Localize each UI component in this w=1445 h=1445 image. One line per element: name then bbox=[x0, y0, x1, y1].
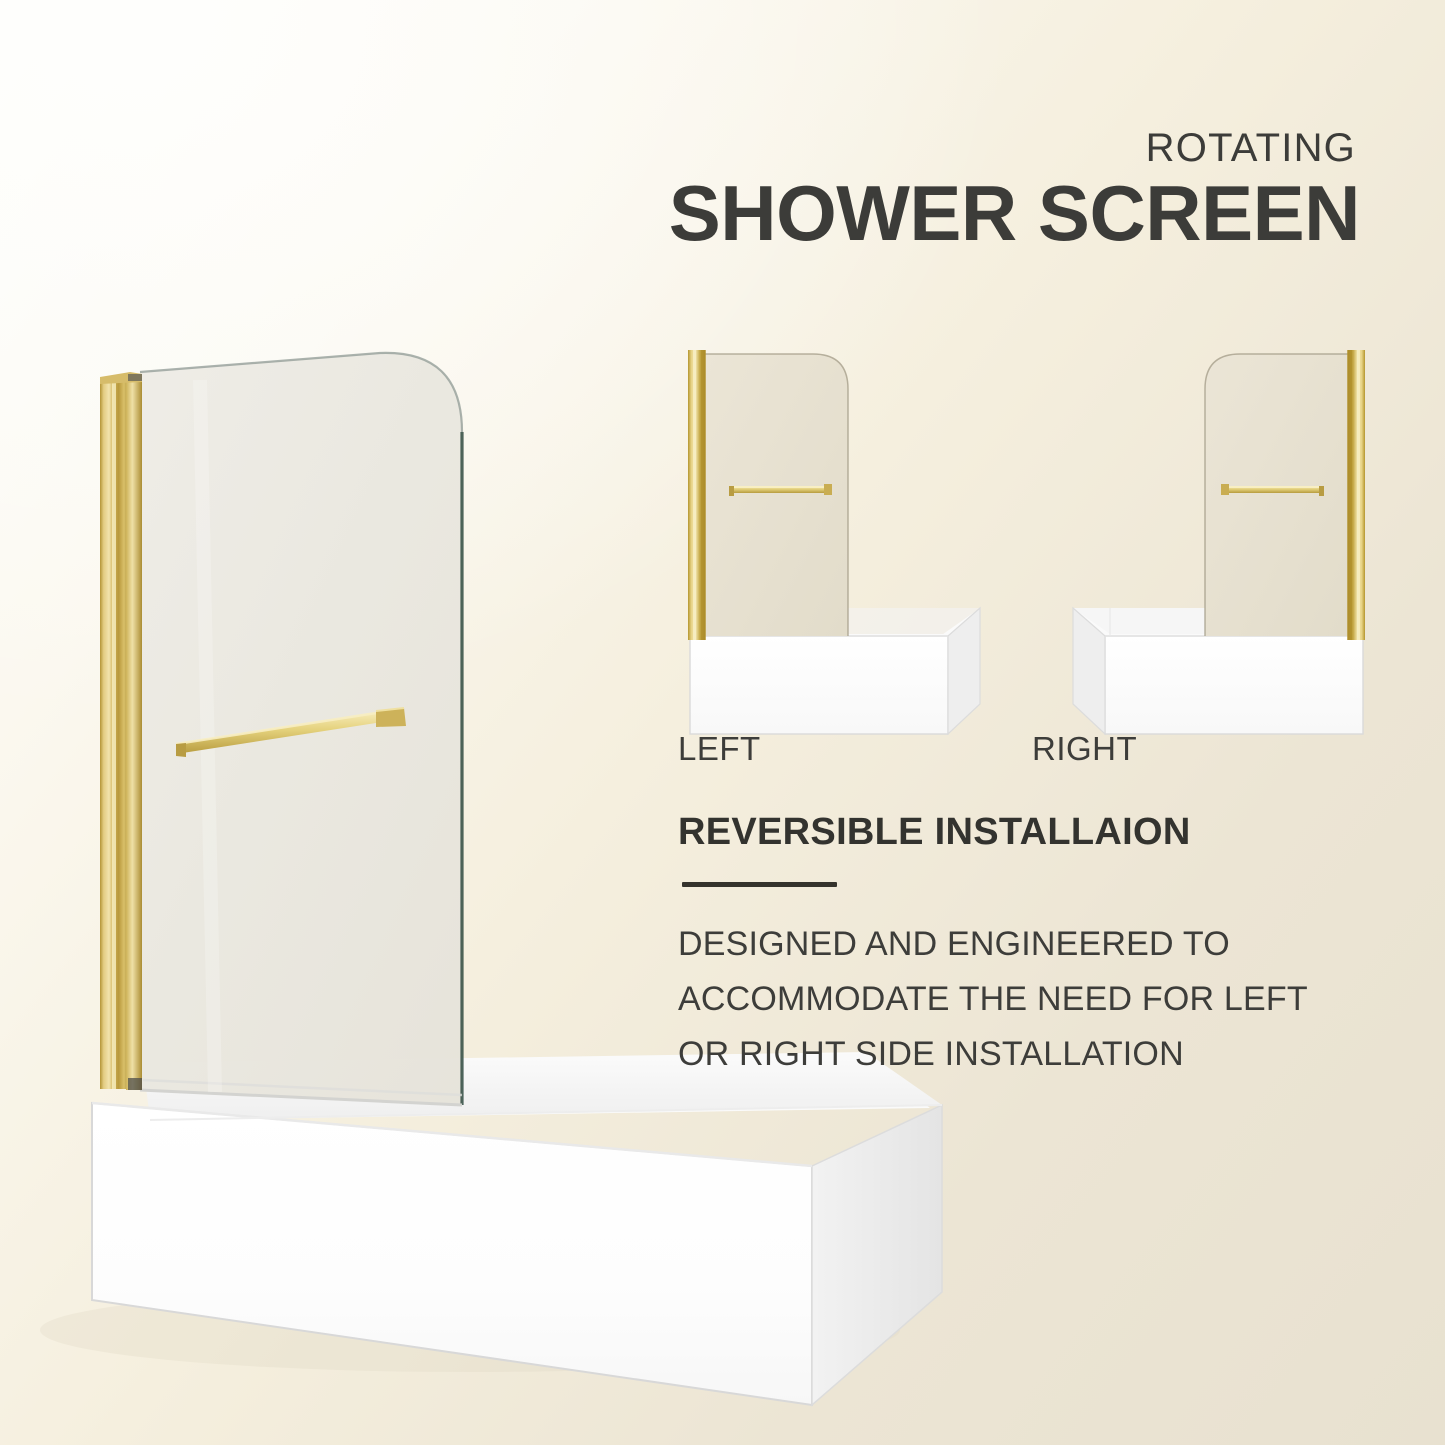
towel-bar-bracket-left bbox=[176, 743, 186, 757]
variant-label-left: LEFT bbox=[678, 730, 761, 768]
variant-left-tub-front bbox=[690, 636, 948, 734]
copy-block: REVERSIBLE INSTALLAION DESIGNED AND ENGI… bbox=[678, 812, 1318, 1082]
variant-left-post-highlight bbox=[693, 350, 696, 640]
copy-body-line-2: ACCOMMODATE THE NEED FOR LEFT bbox=[678, 972, 1318, 1027]
variant-diagram-right bbox=[1040, 336, 1385, 756]
copy-heading: REVERSIBLE INSTALLAION bbox=[678, 812, 1318, 854]
variant-label-right: RIGHT bbox=[1032, 730, 1137, 768]
variant-right-bar-foot bbox=[1319, 486, 1324, 496]
variant-right-bar-bracket bbox=[1221, 484, 1229, 495]
variant-left-bar-highlight bbox=[731, 486, 827, 488]
tub-end-face bbox=[812, 1105, 942, 1405]
variant-left-post-shadow bbox=[701, 350, 706, 640]
copy-divider-rule bbox=[682, 882, 837, 887]
hinge-post-inner bbox=[126, 374, 142, 1090]
variant-right-hinge-post bbox=[1347, 350, 1365, 640]
hinge-top-gasket bbox=[128, 374, 142, 381]
variant-left-hinge-post bbox=[688, 350, 706, 640]
variant-diagram-left bbox=[668, 336, 1013, 756]
variant-right-post-highlight bbox=[1357, 350, 1360, 640]
page-title: SHOWER SCREEN bbox=[600, 174, 1360, 252]
title-kicker: ROTATING bbox=[600, 128, 1356, 168]
copy-body-line-1: DESIGNED AND ENGINEERED TO bbox=[678, 917, 1318, 972]
hinge-post-highlight bbox=[112, 377, 116, 1089]
variant-left-bar-bracket bbox=[824, 484, 832, 495]
variant-right-post-shadow bbox=[1347, 350, 1352, 640]
copy-body: DESIGNED AND ENGINEERED TO ACCOMMODATE T… bbox=[678, 917, 1318, 1082]
hinge-bottom-gasket bbox=[128, 1078, 142, 1090]
title-block: ROTATING SHOWER SCREEN bbox=[600, 128, 1360, 252]
variant-left-bar-foot bbox=[729, 486, 734, 496]
copy-body-line-3: OR RIGHT SIDE INSTALLATION bbox=[678, 1027, 1318, 1082]
variant-right-bar-highlight bbox=[1226, 486, 1322, 488]
product-infographic: ROTATING SHOWER SCREEN bbox=[0, 0, 1445, 1445]
variant-right-tub-front bbox=[1105, 636, 1363, 734]
hero-hinge-post bbox=[100, 372, 142, 1090]
